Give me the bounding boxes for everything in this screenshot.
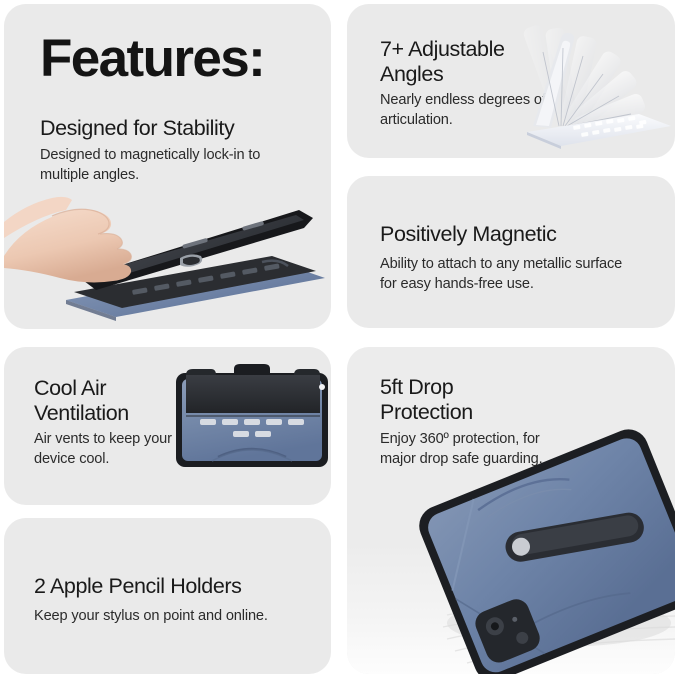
image-hand-adjusting-tablet-on-stand (4, 182, 331, 329)
feature-card-angles: 7+ Adjustable Angles Nearly endless degr… (347, 4, 675, 158)
feature-card-stability: Features: Designed for Stability Designe… (4, 4, 331, 329)
feature-card-pencil-holders: 2 Apple Pencil Holders Keep your stylus … (4, 518, 331, 674)
feature-card-cool-air: Cool Air Ventilation Air vents to keep y… (4, 347, 331, 505)
feature-body-magnetic: Ability to attach to any metallic surfac… (380, 254, 625, 294)
feature-body-cool-air: Air vents to keep your device cool. (34, 429, 194, 469)
feature-heading-drop-protection: 5ft Drop Protection (380, 375, 540, 426)
image-tablet-case-rear-vents (172, 357, 331, 497)
page-title: Features: (40, 32, 264, 85)
feature-body-pencil-holders: Keep your stylus on point and online. (34, 606, 304, 626)
feature-card-drop-protection: 5ft Drop Protection Enjoy 360º protectio… (347, 347, 675, 674)
feature-card-magnetic: Positively Magnetic Ability to attach to… (347, 176, 675, 328)
feature-body-drop-protection: Enjoy 360º protection, for major drop sa… (380, 429, 570, 469)
feature-heading-stability: Designed for Stability (40, 116, 234, 141)
feature-body-stability: Designed to magnetically lock-in to mult… (40, 145, 290, 185)
image-tablet-multiple-angles-ghosted (521, 22, 671, 154)
feature-heading-magnetic: Positively Magnetic (380, 222, 556, 247)
feature-heading-cool-air: Cool Air Ventilation (34, 376, 184, 427)
feature-infographic: Features: Designed for Stability Designe… (0, 0, 679, 678)
feature-heading-pencil-holders: 2 Apple Pencil Holders (34, 574, 242, 599)
